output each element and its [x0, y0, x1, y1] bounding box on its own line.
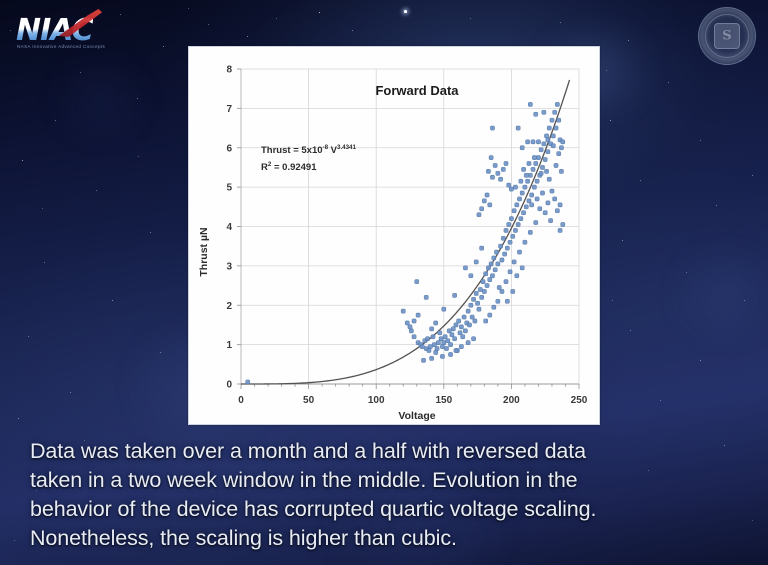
data-point [246, 380, 250, 384]
data-point [558, 203, 562, 207]
data-point [444, 346, 448, 350]
data-point [512, 209, 516, 213]
data-point [536, 140, 540, 144]
star-14 [70, 392, 71, 393]
y-tick-label-7: 7 [226, 104, 232, 115]
data-point [466, 341, 470, 345]
data-point [520, 266, 524, 270]
data-point [485, 193, 489, 197]
data-point [507, 222, 511, 226]
star-22 [622, 240, 623, 241]
data-point [532, 155, 536, 159]
data-point [428, 344, 432, 348]
data-point [425, 337, 429, 341]
star-38 [188, 8, 189, 9]
y-tick-label-4: 4 [226, 222, 232, 233]
data-point [524, 173, 528, 177]
data-point [430, 356, 434, 360]
data-point [432, 343, 436, 347]
star-19 [700, 140, 701, 141]
data-point [542, 142, 546, 146]
data-point [547, 177, 551, 181]
y-tick-label-1: 1 [226, 340, 232, 351]
data-point [442, 341, 446, 345]
caption-line-3: behavior of the device has corrupted qua… [30, 495, 742, 524]
caption-line-2: taken in a two week window in the middle… [30, 466, 742, 495]
axis-lines [237, 69, 579, 389]
nebula-2 [660, 250, 768, 340]
data-point [501, 167, 505, 171]
data-point [493, 268, 497, 272]
star-3 [163, 46, 164, 47]
data-point [492, 305, 496, 309]
data-point [530, 203, 534, 207]
star-18 [610, 120, 611, 121]
star-16 [628, 40, 629, 41]
data-point [496, 299, 500, 303]
data-point [512, 260, 516, 264]
star-39 [276, 18, 277, 19]
star-27 [660, 400, 661, 401]
star-6 [55, 120, 56, 121]
data-point [496, 171, 500, 175]
data-point [534, 220, 538, 224]
data-point [408, 325, 412, 329]
data-point [553, 197, 557, 201]
data-point [424, 295, 428, 299]
data-point [527, 199, 531, 203]
data-point [451, 327, 455, 331]
data-point [504, 228, 508, 232]
data-point [511, 234, 515, 238]
data-point [488, 278, 492, 282]
star-31 [606, 70, 607, 71]
data-point [448, 343, 452, 347]
data-point [412, 335, 416, 339]
data-point [521, 167, 525, 171]
data-point [457, 319, 461, 323]
data-point [555, 209, 559, 213]
data-point [469, 274, 473, 278]
data-point [474, 291, 478, 295]
data-point [492, 256, 496, 260]
data-point [517, 197, 521, 201]
data-point [498, 177, 502, 181]
data-point [488, 313, 492, 317]
data-point [507, 183, 511, 187]
data-point [486, 266, 490, 270]
data-point [409, 329, 413, 333]
data-point [528, 102, 532, 106]
data-point [474, 260, 478, 264]
data-point [561, 140, 565, 144]
star-10 [44, 262, 45, 263]
caption-text: Data was taken over a month and a half w… [30, 437, 742, 553]
y-tick-label-3: 3 [226, 261, 232, 272]
data-point [526, 140, 530, 144]
y-tick-label-2: 2 [226, 301, 232, 312]
data-point [458, 331, 462, 335]
star-29 [612, 300, 613, 301]
data-point [430, 327, 434, 331]
data-point [440, 354, 444, 358]
star-13 [160, 352, 161, 353]
star-34 [470, 18, 471, 19]
data-point [442, 307, 446, 311]
data-point [480, 207, 484, 211]
data-point [482, 199, 486, 203]
data-point [454, 348, 458, 352]
data-point [440, 344, 444, 348]
seal-monogram: S [722, 29, 731, 44]
data-point [531, 140, 535, 144]
data-point [505, 246, 509, 250]
x-tick-label-100: 100 [368, 395, 385, 406]
trend-curve [241, 80, 570, 384]
star-32 [208, 24, 209, 25]
data-point [447, 329, 451, 333]
data-point [480, 295, 484, 299]
data-point [544, 134, 548, 138]
data-point [520, 191, 524, 195]
x-tick-label-50: 50 [303, 395, 315, 406]
data-point [546, 138, 550, 142]
data-point [462, 315, 466, 319]
data-point [547, 126, 551, 130]
nebula-4 [40, 60, 160, 140]
data-point [482, 289, 486, 293]
star-12 [28, 336, 29, 337]
caption-line-1: Data was taken over a month and a half w… [30, 437, 742, 466]
data-point [473, 319, 477, 323]
data-point [480, 246, 484, 250]
data-point [415, 280, 419, 284]
data-point [490, 274, 494, 278]
data-point [508, 270, 512, 274]
star-33 [560, 22, 561, 23]
star-40 [42, 208, 43, 209]
data-point [489, 155, 493, 159]
star-21 [716, 205, 717, 206]
data-point [550, 118, 554, 122]
data-point [416, 313, 420, 317]
data-point [549, 218, 553, 222]
data-point [528, 173, 532, 177]
data-point [435, 346, 439, 350]
data-point [559, 169, 563, 173]
data-point [453, 293, 457, 297]
data-point [466, 309, 470, 313]
data-point [498, 244, 502, 248]
star-9 [150, 232, 151, 233]
data-point [484, 319, 488, 323]
data-point [488, 203, 492, 207]
data-point [448, 352, 452, 356]
data-point [470, 315, 474, 319]
star-15 [18, 418, 19, 419]
data-point [513, 185, 517, 189]
data-point [516, 222, 520, 226]
data-point [490, 175, 494, 179]
data-point [538, 207, 542, 211]
data-point [450, 333, 454, 337]
data-point [453, 337, 457, 341]
star-24 [744, 300, 745, 301]
data-point [561, 222, 565, 226]
data-point [427, 348, 431, 352]
data-point [471, 297, 475, 301]
star-30 [752, 175, 753, 176]
data-point [461, 335, 465, 339]
y-axis-title: Thrust µN [198, 227, 210, 276]
data-point [521, 211, 525, 215]
data-point [553, 110, 557, 114]
data-point [436, 341, 440, 345]
data-point [438, 331, 442, 335]
x-tick-label-200: 200 [503, 395, 520, 406]
data-point [523, 185, 527, 189]
data-point [439, 337, 443, 341]
star-2 [247, 36, 248, 37]
data-point [493, 163, 497, 167]
caption-line-4: Nonetheless, the scaling is higher than … [30, 524, 742, 553]
data-point [504, 280, 508, 284]
data-point [531, 167, 535, 171]
data-point [420, 344, 424, 348]
data-point [476, 301, 480, 305]
data-point [509, 217, 513, 221]
niac-subtitle: NASA Innovative Advanced Concepts [17, 44, 105, 49]
data-point [490, 126, 494, 130]
scatter-plot: 050100150200250012345678 Forward Data Vo… [189, 47, 599, 424]
slide-canvas: NIAC NASA Innovative Advanced Concepts S… [0, 0, 768, 565]
star-17 [668, 82, 669, 83]
data-point [530, 193, 534, 197]
data-point [542, 110, 546, 114]
data-point [558, 228, 562, 232]
star-23 [686, 272, 687, 273]
data-point [485, 283, 489, 287]
data-point [534, 112, 538, 116]
data-point [446, 339, 450, 343]
data-point [471, 337, 475, 341]
data-point [550, 189, 554, 193]
x-axis-title: Voltage [398, 410, 435, 422]
data-point [486, 169, 490, 173]
data-point [454, 323, 458, 327]
star-1 [404, 10, 407, 13]
data-point [543, 211, 547, 215]
data-point [489, 262, 493, 266]
data-point [543, 157, 547, 161]
data-point [421, 358, 425, 362]
data-point [519, 179, 523, 183]
data-point [557, 152, 561, 156]
data-point [532, 185, 536, 189]
data-point [469, 303, 473, 307]
data-point [539, 171, 543, 175]
data-point [544, 169, 548, 173]
star-41 [138, 156, 139, 157]
data-point [401, 309, 405, 313]
data-point [515, 203, 519, 207]
data-point [534, 161, 538, 165]
data-point [434, 321, 438, 325]
chart-panel: 050100150200250012345678 Forward Data Vo… [188, 46, 600, 425]
y-tick-label-8: 8 [226, 65, 232, 76]
data-point [467, 323, 471, 327]
star-7 [22, 160, 23, 161]
data-point [496, 262, 500, 266]
data-point [481, 280, 485, 284]
data-point [500, 258, 504, 262]
data-point [557, 118, 561, 122]
data-point [546, 201, 550, 205]
data-point [554, 163, 558, 167]
star-8 [96, 190, 97, 191]
data-point [540, 191, 544, 195]
data-point [494, 250, 498, 254]
data-point [559, 146, 563, 150]
data-point [555, 102, 559, 106]
data-point [504, 161, 508, 165]
data-point [535, 197, 539, 201]
trend-line [241, 80, 570, 384]
data-point [484, 272, 488, 276]
star-4 [80, 72, 81, 73]
data-point [463, 266, 467, 270]
star-46 [752, 520, 753, 521]
x-tick-label-150: 150 [435, 395, 452, 406]
data-point [477, 213, 481, 217]
data-point [535, 179, 539, 183]
data-point [501, 236, 505, 240]
plot-svg: 050100150200250012345678 Forward Data Vo… [189, 47, 601, 426]
data-point [551, 134, 555, 138]
data-point [515, 274, 519, 278]
star-0 [319, 12, 320, 13]
star-47 [14, 540, 15, 541]
r-squared-annotation: R2 = 0.92491 [261, 161, 317, 173]
data-point [551, 144, 555, 148]
data-point [459, 325, 463, 329]
data-point [431, 335, 435, 339]
data-point [478, 287, 482, 291]
star-20 [640, 180, 641, 181]
data-point [412, 319, 416, 323]
data-point [505, 299, 509, 303]
data-point [513, 228, 517, 232]
university-seal-logo: S [698, 7, 756, 65]
star-36 [10, 30, 11, 31]
data-point [536, 155, 540, 159]
data-point [503, 252, 507, 256]
y-tick-label-6: 6 [226, 143, 232, 154]
fit-equation: Thrust = 5x10-8 V3.4341 [261, 144, 356, 156]
data-point [516, 126, 520, 130]
niac-logo: NIAC NASA Innovative Advanced Concepts [14, 8, 150, 54]
data-point [527, 161, 531, 165]
x-tick-label-250: 250 [571, 395, 588, 406]
y-tick-label-0: 0 [226, 380, 232, 391]
data-point [554, 126, 558, 130]
data-point [519, 217, 523, 221]
data-point [443, 335, 447, 339]
star-35 [352, 30, 353, 31]
data-point [528, 230, 532, 234]
star-25 [630, 330, 631, 331]
data-point [546, 150, 550, 154]
star-11 [112, 300, 113, 301]
data-point [520, 146, 524, 150]
data-point [477, 307, 481, 311]
data-point [524, 205, 528, 209]
data-point [497, 285, 501, 289]
star-5 [137, 98, 138, 99]
data-point [540, 165, 544, 169]
chart-title: Forward Data [375, 83, 459, 98]
data-point [463, 329, 467, 333]
data-point [509, 187, 513, 191]
grid-lines [241, 69, 579, 384]
data-point [511, 289, 515, 293]
data-point [434, 350, 438, 354]
y-tick-label-5: 5 [226, 183, 232, 194]
data-point [517, 250, 521, 254]
data-point [500, 289, 504, 293]
x-tick-label-0: 0 [238, 395, 244, 406]
data-point [405, 321, 409, 325]
data-point [508, 240, 512, 244]
star-26 [700, 360, 701, 361]
data-point [539, 148, 543, 152]
data-point [459, 344, 463, 348]
data-point [526, 179, 530, 183]
data-point [523, 240, 527, 244]
